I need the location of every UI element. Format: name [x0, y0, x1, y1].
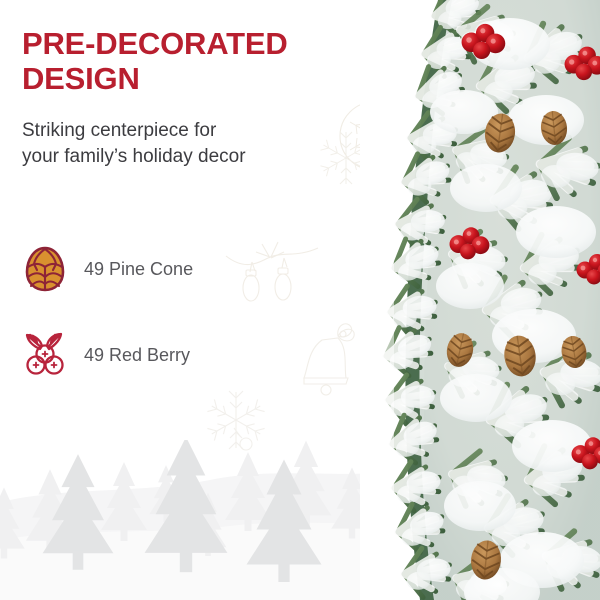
feature-item-red-berry: 49 Red Berry: [22, 329, 352, 381]
red-berry-icon: [22, 332, 68, 378]
marketing-banner: PRE-DECORATED DESIGN Striking centerpiec…: [0, 0, 600, 600]
page-subtitle: Striking centerpiece for your family’s h…: [22, 118, 322, 170]
feature-list: 49 Pine Cone: [22, 243, 352, 415]
content-panel: PRE-DECORATED DESIGN Striking centerpiec…: [0, 0, 400, 600]
flocked-christmas-tree-photo: [360, 0, 600, 600]
feature-item-pine-cone: 49 Pine Cone: [22, 243, 352, 295]
page-title: PRE-DECORATED DESIGN: [22, 26, 352, 97]
feature-label-red-berry: 49 Red Berry: [84, 345, 190, 366]
snowy-forest-silhouette: [0, 440, 400, 600]
feature-label-pine-cone: 49 Pine Cone: [84, 259, 193, 280]
pine-cone-icon: [22, 246, 68, 292]
